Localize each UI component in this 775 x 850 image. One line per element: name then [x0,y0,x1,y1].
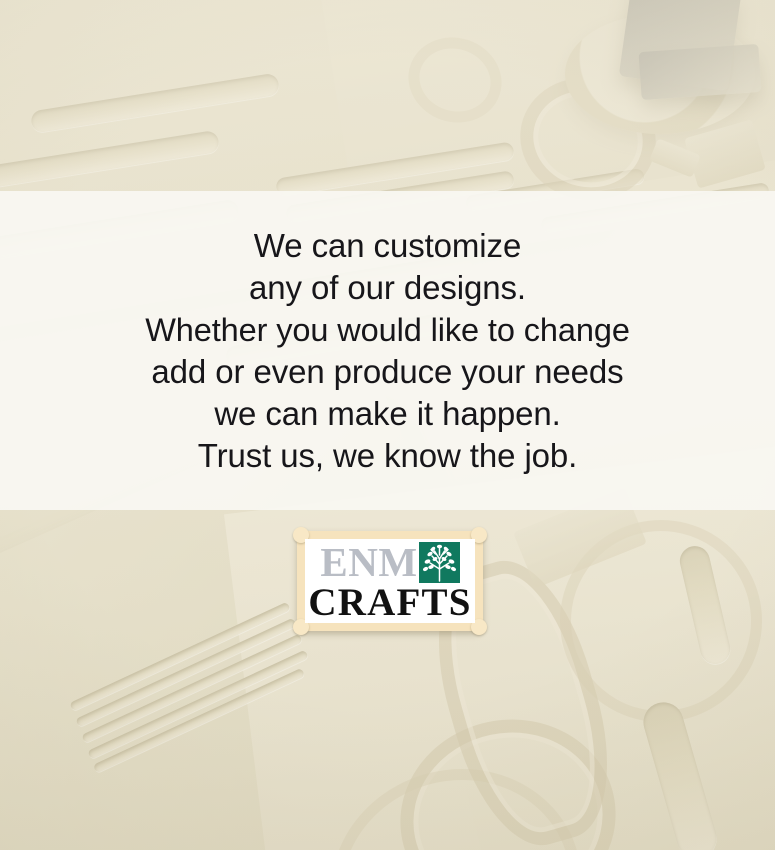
message-panel: We can customize any of our designs. Whe… [0,191,775,510]
message-line-1: We can customize [0,225,775,267]
brand-logo[interactable]: ENM [297,531,483,631]
message-line-6: Trust us, we know the job. [0,435,775,477]
promo-banner: We can customize any of our designs. Whe… [0,0,775,850]
message-line-5: we can make it happen. [0,393,775,435]
message-text-block: We can customize any of our designs. Whe… [0,225,775,477]
logo-card: ENM [305,539,475,623]
message-line-4: add or even produce your needs [0,351,775,393]
logo-top-row: ENM [320,541,459,585]
message-line-3: Whether you would like to change [0,309,775,351]
logo-wordmark-top: ENM [320,542,417,583]
tree-icon [419,542,460,583]
message-line-2: any of our designs. [0,267,775,309]
logo-wordmark-bottom: CRAFTS [308,583,471,623]
